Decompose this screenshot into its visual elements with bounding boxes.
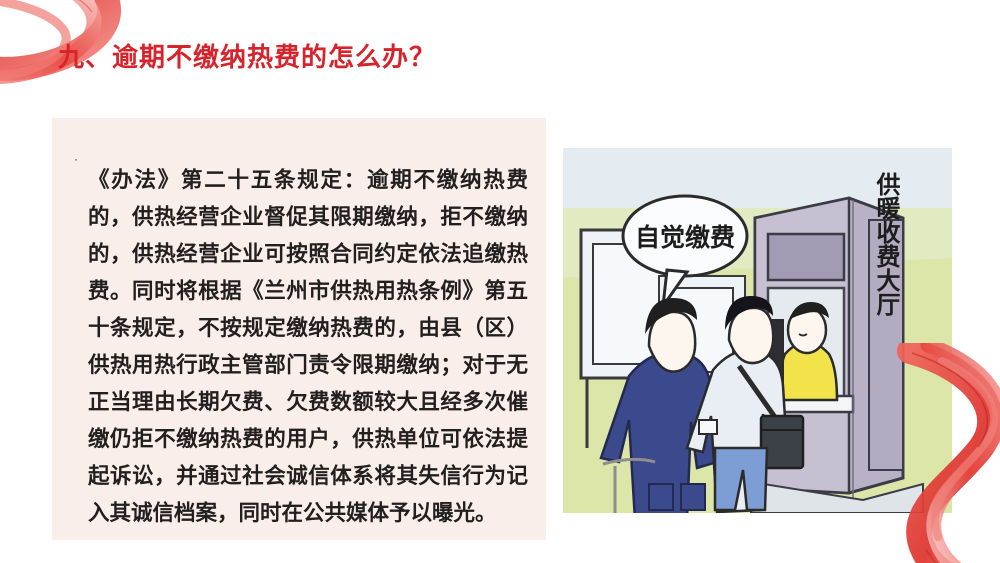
speech-bubble-text: 自觉缴费 [635, 223, 735, 252]
vertical-sign: 供暖收费大厅 [869, 172, 903, 470]
slide-canvas: 九、逾期不缴纳热费的怎么办？ · 《办法》第二十五条规定：逾期不缴纳热费的，供热… [0, 0, 1000, 563]
illustration-payment-hall: 自觉缴费 [563, 148, 952, 513]
body-paragraph: 《办法》第二十五条规定：逾期不缴纳热费的，供热经营企业督促其限期缴纳，拒不缴纳的… [88, 162, 528, 532]
content-panel: · 《办法》第二十五条规定：逾期不缴纳热费的，供热经营企业督促其限期缴纳，拒不缴… [52, 118, 546, 540]
page-title: 九、逾期不缴纳热费的怎么办？ [58, 40, 436, 74]
bullet-list-item: · 《办法》第二十五条规定：逾期不缴纳热费的，供热经营企业督促其限期缴纳，拒不缴… [74, 140, 528, 553]
vertical-sign-text: 供暖收费大厅 [872, 172, 901, 316]
bullet-marker-icon: · [74, 140, 88, 165]
